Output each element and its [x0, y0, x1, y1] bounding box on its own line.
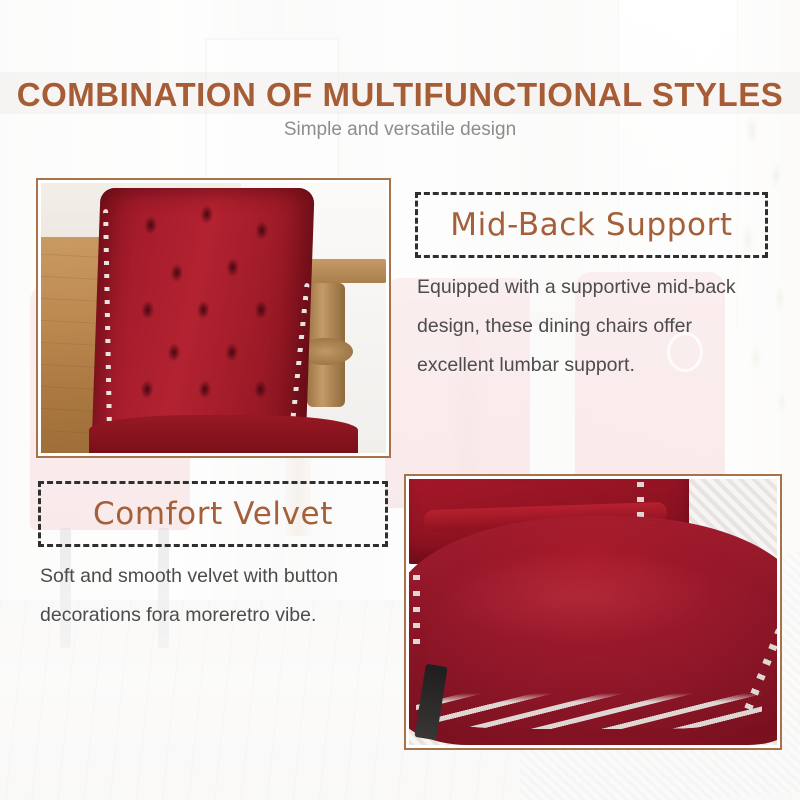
feature-text-line: excellent lumbar support.: [417, 346, 785, 385]
photo1-chair-seat: [89, 415, 358, 453]
feature-heading-comfort-velvet: Comfort Velvet: [93, 496, 333, 532]
feature-heading-mid-back-support: Mid-Back Support: [450, 207, 732, 243]
feature-text-line: decorations fora moreretro vibe.: [40, 596, 408, 635]
photo2-velvet-sheen: [438, 548, 718, 644]
photo1-button-tufting: [92, 188, 315, 453]
photo-velvet-seat-closeup: [404, 474, 782, 750]
photo1-table-leg: [307, 283, 345, 407]
photo2-nailhead-trim-front: [416, 671, 762, 730]
feature-heading-box-mid-back-support: Mid-Back Support: [415, 192, 768, 258]
feature-text-mid-back-support: Equipped with a supportive mid-back desi…: [417, 268, 785, 385]
feature-text-line: Equipped with a supportive mid-back: [417, 268, 785, 307]
page-title: COMBINATION OF MULTIFUNCTIONAL STYLES: [0, 76, 800, 114]
feature-text-comfort-velvet: Soft and smooth velvet with button decor…: [40, 557, 408, 635]
product-feature-poster: COMBINATION OF MULTIFUNCTIONAL STYLES Si…: [0, 0, 800, 800]
photo1-chair-back: [92, 188, 315, 453]
photo2-nailhead-trim-left: [413, 575, 420, 649]
feature-text-line: Soft and smooth velvet with button: [40, 557, 408, 596]
feature-heading-box-comfort-velvet: Comfort Velvet: [38, 481, 388, 547]
page-subtitle: Simple and versatile design: [0, 119, 800, 141]
photo-tufted-chair-back: [36, 178, 391, 458]
feature-text-line: design, these dining chairs offer: [417, 307, 785, 346]
